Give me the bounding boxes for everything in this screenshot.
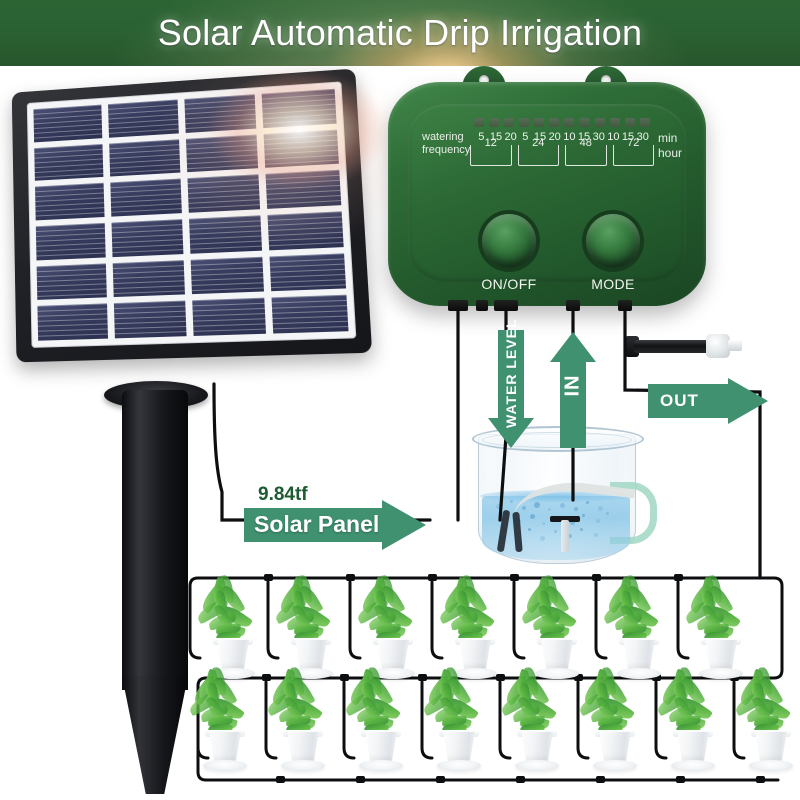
out-arrow-head: [728, 378, 768, 424]
plant-pot-item: [500, 680, 574, 776]
controller-body: watering frequency 515205152010153010153…: [388, 82, 706, 306]
bubble: [510, 500, 513, 503]
plant-saucer: [515, 760, 559, 771]
in-arrow-label: IN: [562, 360, 585, 412]
plant-pot: [597, 732, 633, 762]
solar-cell: [187, 174, 260, 212]
drip-connector: [264, 574, 273, 581]
bubble: [496, 504, 501, 509]
solar-cell: [33, 105, 102, 142]
plant-pot: [621, 640, 657, 670]
on-off-button-label: ON/OFF: [464, 276, 554, 292]
solar-cell: [190, 256, 264, 294]
controller-face: watering frequency 515205152010153010153…: [408, 104, 686, 282]
hour-group-row: 12244872: [470, 145, 654, 167]
plant-pot: [293, 640, 329, 670]
solar-panel-spec: 9.84tf: [258, 484, 308, 506]
filter-nozzle: [728, 340, 742, 351]
plant-pot-item: [422, 680, 496, 776]
port-in: [566, 300, 580, 311]
mode-button-label: MODE: [568, 276, 658, 292]
drip-connector: [516, 776, 525, 783]
solar-cell: [34, 144, 103, 181]
plant-saucer: [359, 760, 403, 771]
in-arrow-head: [550, 332, 596, 362]
drip-connector: [356, 776, 365, 783]
plant-pot: [363, 732, 399, 762]
plant-pot: [703, 640, 739, 670]
intake-filter-stem: [561, 520, 569, 552]
led-indicator: [610, 118, 620, 127]
plant-pot-item: [684, 588, 758, 684]
led-indicator: [625, 118, 635, 127]
drip-connector: [346, 574, 355, 581]
led-indicator-row: [474, 118, 650, 127]
plant-pot-item: [734, 680, 800, 776]
unit-min-label: min: [658, 131, 682, 146]
plant-pot: [215, 640, 251, 670]
led-indicator: [534, 118, 544, 127]
mode-button[interactable]: [586, 214, 640, 268]
solar-cell: [185, 134, 258, 172]
watering-frequency-panel: watering frequency 515205152010153010153…: [422, 130, 674, 174]
solar-panel: [4, 74, 376, 390]
out-callout: OUT: [648, 384, 766, 418]
stake-tip-icon: [122, 676, 188, 794]
plant-pot-item: [196, 588, 270, 684]
port-water-level: [494, 300, 518, 311]
ground-stake: [122, 390, 188, 690]
plant-pot-item: [188, 680, 262, 776]
plant-saucer: [593, 760, 637, 771]
solar-cell: [114, 301, 186, 339]
drip-connector: [276, 776, 285, 783]
solar-cell: [37, 263, 107, 300]
plant-pot-item: [274, 588, 348, 684]
plant-saucer: [437, 760, 481, 771]
drip-connector: [436, 776, 445, 783]
solar-cell: [270, 253, 346, 292]
drip-connector: [596, 776, 605, 783]
solar-cell-grid: [33, 89, 348, 341]
solar-cell: [264, 129, 339, 168]
out-arrow-label: OUT: [648, 384, 699, 418]
unit-hour-label: hour: [658, 146, 682, 161]
plant-saucer: [535, 668, 579, 679]
drip-connector: [510, 574, 519, 581]
solar-callout-head: [382, 500, 426, 550]
solar-cell: [262, 89, 337, 128]
water-bucket: [470, 424, 642, 568]
plant-saucer: [281, 760, 325, 771]
solar-cell: [112, 260, 184, 298]
plant-pot-item: [344, 680, 418, 776]
hour-group-brace: 72: [613, 145, 655, 166]
inline-filter-tube: [634, 340, 710, 353]
led-indicator: [580, 118, 590, 127]
drip-connector: [676, 776, 685, 783]
hour-value: 12: [471, 137, 511, 150]
solar-cell: [36, 223, 106, 260]
solar-panel-callout: 9.84tf Solar Panel: [244, 508, 426, 542]
led-indicator: [549, 118, 559, 127]
led-indicator: [519, 118, 529, 127]
solar-cell: [37, 304, 107, 341]
solar-cell: [35, 183, 104, 220]
plant-pot: [441, 732, 477, 762]
water-level-callout: WATER LEVEL: [498, 330, 524, 448]
solar-cell: [192, 298, 267, 336]
solar-cell: [108, 99, 179, 137]
plant-saucer: [617, 668, 661, 679]
plant-pot: [675, 732, 711, 762]
plant-saucer: [203, 760, 247, 771]
hour-value: 24: [519, 137, 559, 150]
solar-cell: [184, 94, 257, 132]
hour-group-brace: 48: [565, 145, 607, 166]
in-callout: IN: [560, 332, 586, 448]
plant-pot-item: [578, 680, 652, 776]
plant-pot: [285, 732, 321, 762]
led-indicator: [474, 118, 484, 127]
plant-pot: [457, 640, 493, 670]
drip-connector: [592, 574, 601, 581]
page-title: Solar Automatic Drip Irrigation: [0, 0, 800, 66]
plant-pot: [375, 640, 411, 670]
plant-pot: [519, 732, 555, 762]
drip-connector: [756, 776, 765, 783]
plant-saucer: [671, 760, 715, 771]
plant-pot-item: [656, 680, 730, 776]
led-indicator: [640, 118, 650, 127]
plant-pot-item: [266, 680, 340, 776]
port-power: [448, 300, 468, 311]
solar-cell: [266, 170, 342, 209]
on-off-button[interactable]: [482, 214, 536, 268]
hour-group-brace: 12: [470, 145, 512, 166]
plant-saucer: [749, 760, 793, 771]
solar-cell: [272, 295, 349, 334]
solar-panel-label: Solar Panel: [254, 511, 379, 538]
solar-cell: [189, 215, 263, 253]
filter-cap: [706, 334, 730, 358]
plant-pot: [207, 732, 243, 762]
port-out: [618, 300, 632, 311]
solar-cell: [110, 179, 181, 217]
header-banner: Solar Automatic Drip Irrigation: [0, 0, 800, 66]
water-level-arrow-label: WATER LEVEL: [503, 340, 519, 428]
led-indicator: [564, 118, 574, 127]
hour-value: 72: [614, 137, 654, 150]
solar-cell: [109, 139, 180, 177]
solar-cell: [111, 219, 183, 257]
led-indicator: [489, 118, 499, 127]
unit-labels: min hour: [658, 131, 682, 161]
solar-panel-frame: [12, 69, 372, 363]
port-aux: [476, 300, 488, 311]
hour-group-brace: 24: [518, 145, 560, 166]
drip-connector: [674, 574, 683, 581]
plant-pot: [753, 732, 789, 762]
plant-pot: [539, 640, 575, 670]
solar-cable: [214, 384, 430, 520]
product-infographic: Solar Automatic Drip Irrigation watering…: [0, 0, 800, 800]
led-indicator: [504, 118, 514, 127]
solar-panel-glass: [27, 81, 357, 348]
led-indicator: [595, 118, 605, 127]
solar-cell: [268, 211, 344, 250]
hour-value: 48: [566, 137, 606, 150]
plant-pot-item: [602, 588, 676, 684]
plant-saucer: [699, 668, 743, 679]
drip-connector: [428, 574, 437, 581]
plant-saucer: [453, 668, 497, 679]
